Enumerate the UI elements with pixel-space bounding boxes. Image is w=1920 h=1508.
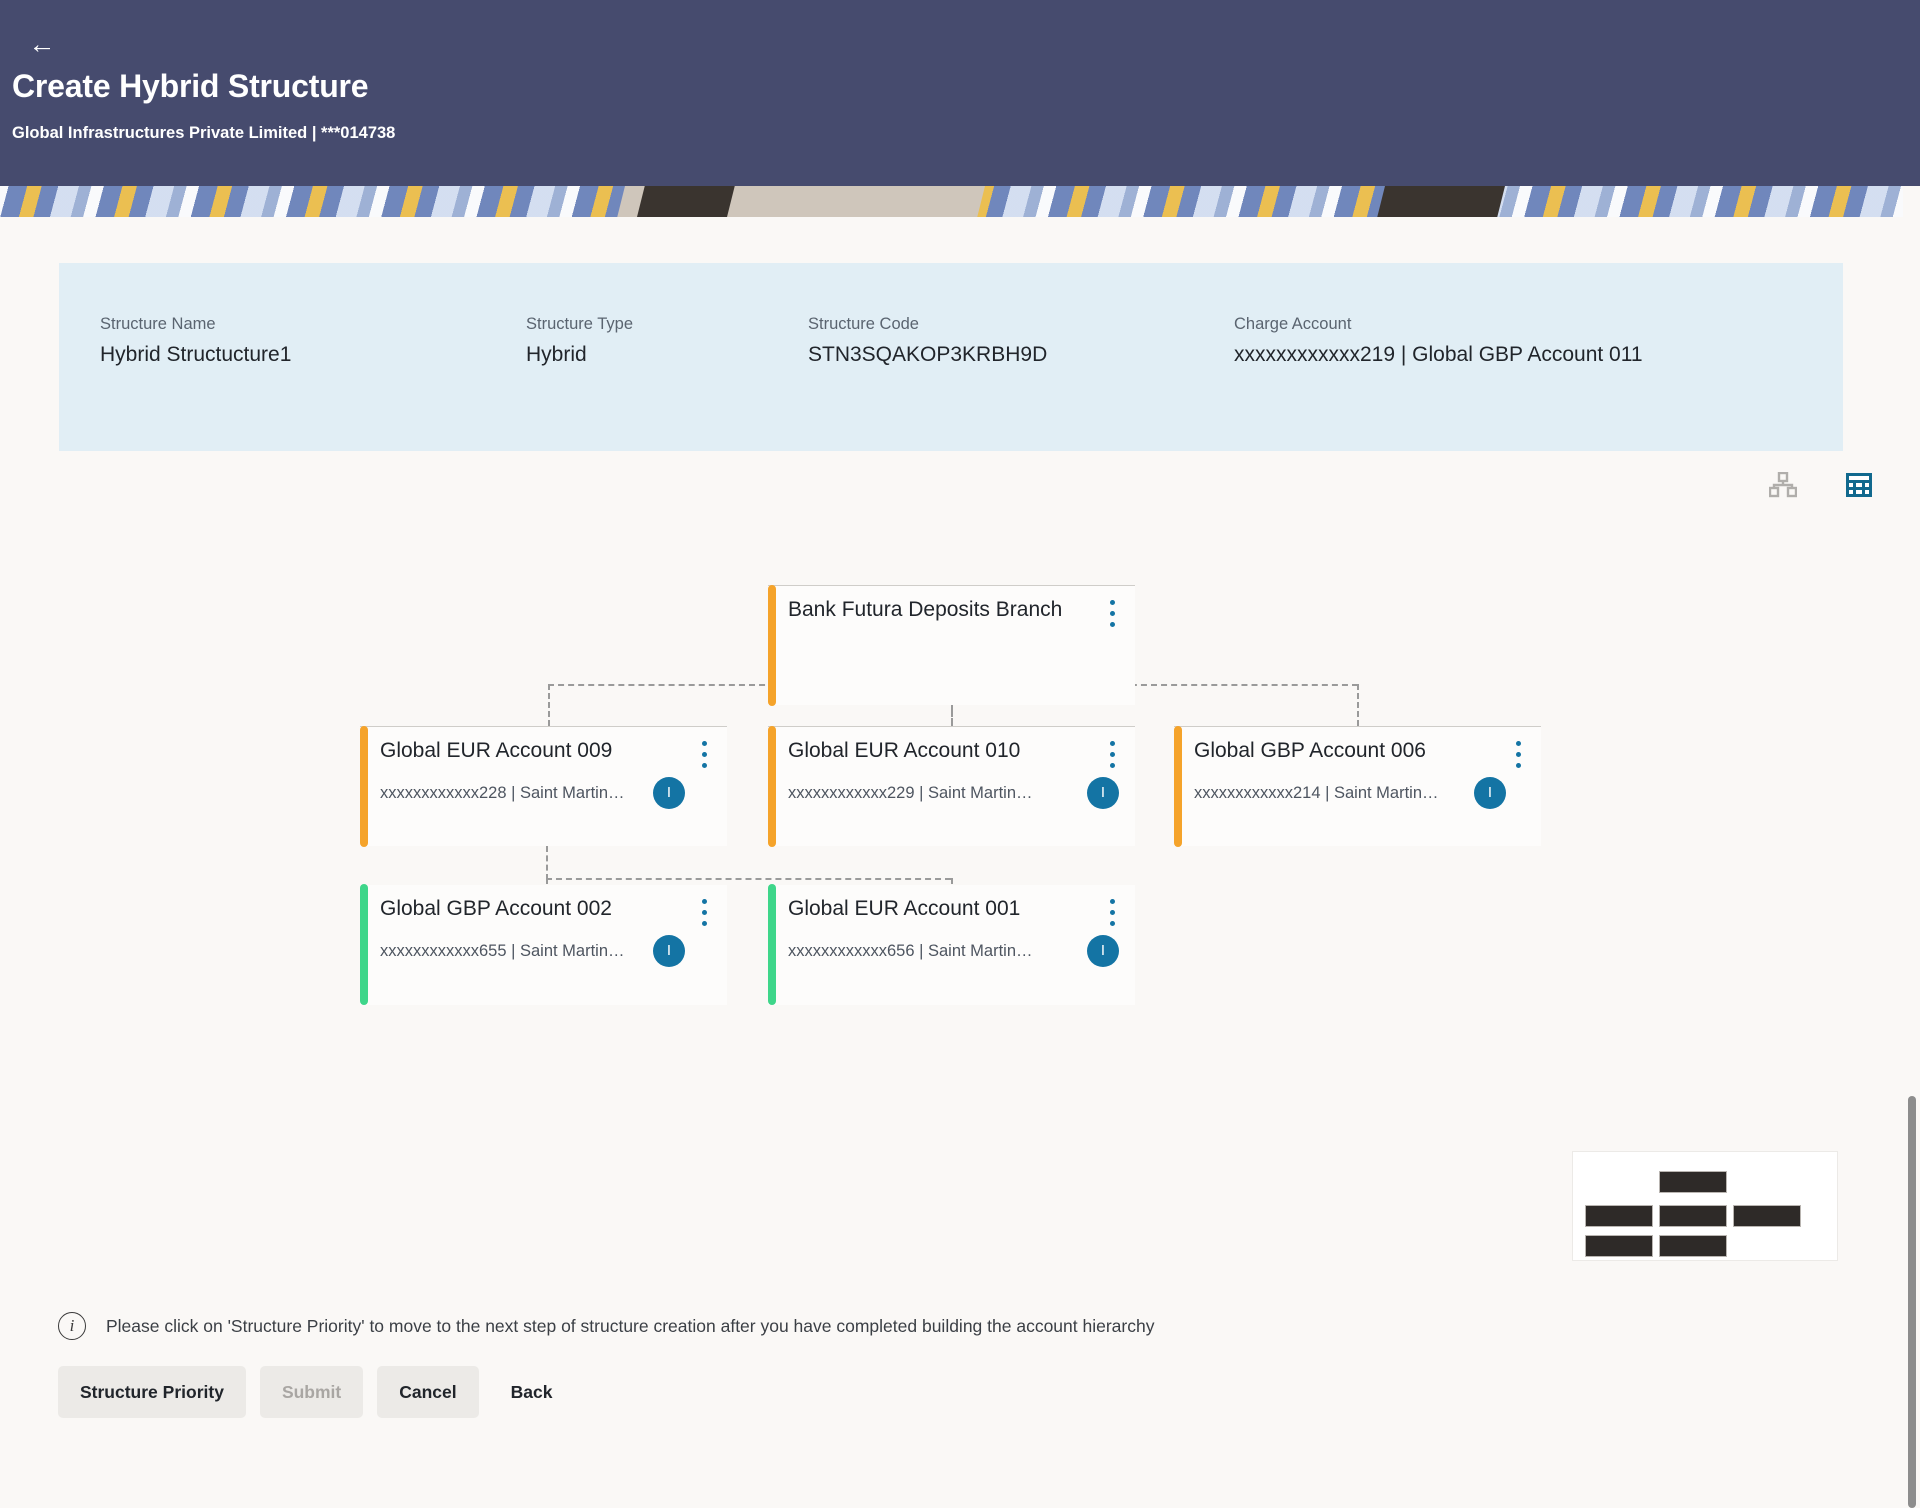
minimap-node [1733,1205,1801,1227]
banner-blotch [1373,186,1507,217]
field-label: Structure Type [526,315,633,334]
field-label: Structure Name [100,315,291,334]
node-badge[interactable]: I [1474,777,1506,809]
hierarchy-view-icon[interactable] [1769,472,1797,503]
node-menu-icon[interactable] [1103,899,1121,931]
page-subtitle: Global Infrastructures Private Limited |… [12,124,395,143]
node-account-number: xxxxxxxxxxxx228 | Saint Martin… [380,784,625,803]
node-account-number: xxxxxxxxxxxx229 | Saint Martin… [788,784,1033,803]
node-color-bar [768,585,776,706]
node-menu-icon[interactable] [1509,741,1527,773]
node-account-number: xxxxxxxxxxxx655 | Saint Martin… [380,942,625,961]
banner-blotch [634,186,736,217]
decorative-banner-image [0,186,1920,217]
tree-node-account[interactable]: Global GBP Account 006 xxxxxxxxxxxx214 |… [1174,726,1541,846]
page-title: Create Hybrid Structure [12,68,368,105]
node-color-bar [768,884,776,1005]
minimap-node [1659,1235,1727,1257]
arrow-left-icon[interactable]: ← [20,27,64,61]
node-title: Global GBP Account 002 [380,897,612,921]
summary-field-structure-name: Structure Name Hybrid Structucture1 [100,315,291,367]
submit-button: Submit [260,1366,363,1418]
summary-field-structure-type: Structure Type Hybrid [526,315,633,367]
tree-node-root[interactable]: Bank Futura Deposits Branch [768,585,1135,705]
node-menu-icon[interactable] [1103,600,1121,632]
tree-connector [548,684,550,726]
node-badge[interactable]: I [653,935,685,967]
field-label: Charge Account [1234,315,1643,334]
node-color-bar [360,884,368,1005]
tree-connector [1357,684,1359,726]
node-menu-icon[interactable] [695,741,713,773]
field-value: Hybrid Structucture1 [100,343,291,367]
info-icon: i [58,1312,86,1340]
minimap-node [1659,1205,1727,1227]
summary-field-charge-account: Charge Account xxxxxxxxxxxx219 | Global … [1234,315,1643,367]
back-button[interactable]: Back [493,1366,571,1418]
tree-connector [546,878,951,880]
node-badge[interactable]: I [1087,935,1119,967]
tree-connector [546,846,548,880]
action-button-row: Structure Priority Submit Cancel Back [58,1366,570,1418]
node-menu-icon[interactable] [1103,741,1121,773]
node-menu-icon[interactable] [695,899,713,931]
field-value: xxxxxxxxxxxx219 | Global GBP Account 011 [1234,343,1643,367]
node-badge[interactable]: I [1087,777,1119,809]
field-value: Hybrid [526,343,633,367]
node-title: Bank Futura Deposits Branch [788,598,1062,622]
tree-minimap[interactable] [1572,1151,1838,1261]
vertical-scrollbar[interactable] [1903,186,1920,1440]
tree-node-account[interactable]: Global EUR Account 001 xxxxxxxxxxxx656 |… [768,885,1135,1005]
cancel-button[interactable]: Cancel [377,1366,478,1418]
node-title: Global EUR Account 009 [380,739,612,763]
minimap-node [1585,1205,1653,1227]
tree-node-account[interactable]: Global GBP Account 002 xxxxxxxxxxxx655 |… [360,885,727,1005]
node-account-number: xxxxxxxxxxxx214 | Saint Martin… [1194,784,1439,803]
scrollbar-thumb[interactable] [1908,1096,1916,1508]
info-message-row: i Please click on 'Structure Priority' t… [58,1312,1154,1340]
node-badge[interactable]: I [653,777,685,809]
structure-summary-card: Structure Name Hybrid Structucture1 Stru… [59,263,1843,451]
table-view-icon[interactable] [1845,472,1873,503]
view-toggle-group [1769,472,1873,503]
tree-node-account[interactable]: Global EUR Account 010 xxxxxxxxxxxx229 |… [768,726,1135,846]
tree-node-account[interactable]: Global EUR Account 009 xxxxxxxxxxxx228 |… [360,726,727,846]
node-color-bar [1174,726,1182,847]
node-title: Global EUR Account 001 [788,897,1020,921]
info-message: Please click on 'Structure Priority' to … [106,1316,1154,1337]
node-title: Global EUR Account 010 [788,739,1020,763]
structure-priority-button[interactable]: Structure Priority [58,1366,246,1418]
node-account-number: xxxxxxxxxxxx656 | Saint Martin… [788,942,1033,961]
field-value: STN3SQAKOP3KRBH9D [808,343,1047,367]
node-title: Global GBP Account 006 [1194,739,1426,763]
field-label: Structure Code [808,315,1047,334]
page-header: ← Create Hybrid Structure Global Infrast… [0,0,1920,186]
node-color-bar [768,726,776,847]
minimap-node [1659,1171,1727,1193]
summary-field-structure-code: Structure Code STN3SQAKOP3KRBH9D [808,315,1047,367]
node-color-bar [360,726,368,847]
minimap-node [1585,1235,1653,1257]
